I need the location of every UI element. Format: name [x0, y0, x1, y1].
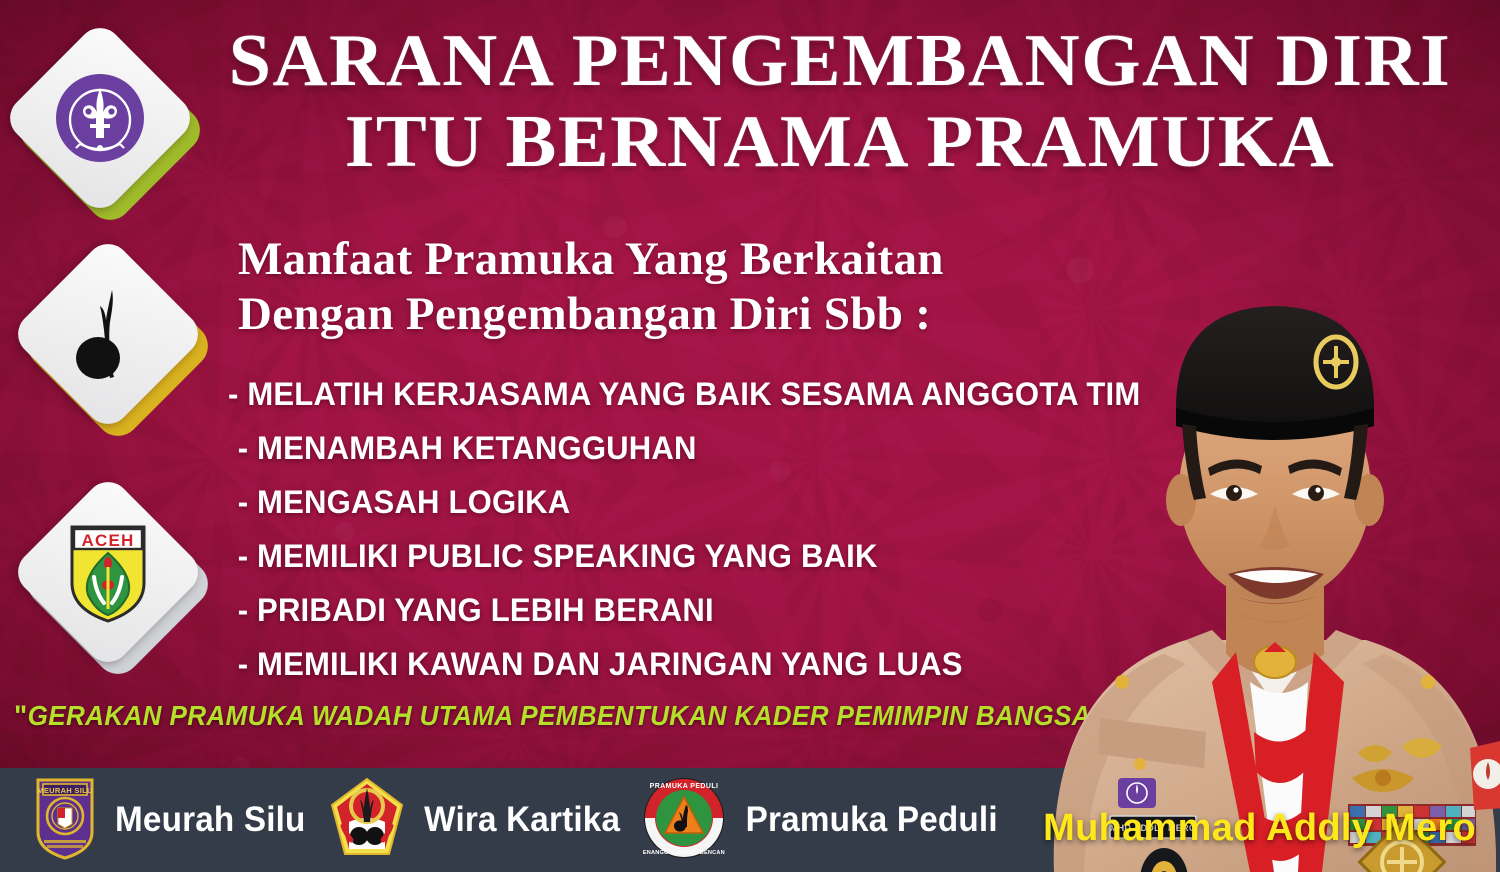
bottom-bar-label-wira-kartika: Wira Kartika	[424, 800, 620, 840]
bottom-bar-label-pramuka-peduli: Pramuka Peduli	[746, 800, 998, 840]
poster-title: SARANA PENGEMBANGAN DIRI ITU BERNAMA PRA…	[195, 26, 1485, 178]
svg-text:PRAMUKA PEDULI: PRAMUKA PEDULI	[650, 783, 719, 790]
person-photo: MHD ADDLY MERO	[1036, 212, 1500, 872]
person-name-label: Muhammad Addly Mero	[1043, 807, 1476, 850]
title-line-1: SARANA PENGEMBANGAN DIRI	[176, 26, 1500, 97]
wira-kartika-pentagon-icon	[329, 776, 405, 865]
aceh-provincial-emblem-badge: ACEH	[36, 500, 196, 660]
subtitle-line-1: Manfaat Pramuka Yang Berkaitan	[238, 232, 1138, 287]
quote-open-mark: "	[14, 700, 28, 733]
bottom-bar-label-meurah-silu: Meurah Silu	[115, 800, 306, 840]
aceh-emblem-icon: ACEH	[38, 502, 178, 642]
title-line-2: ITU BERNAMA PRAMUKA	[176, 107, 1500, 178]
svg-text:MEURAH SILU: MEURAH SILU	[37, 786, 92, 795]
world-scout-emblem-badge	[28, 46, 188, 206]
bottom-bar-item-pramuka-peduli: PRAMUKA PEDULI PENANGGULANGAN BENCANA Pr…	[643, 777, 1022, 864]
svg-text:PENANGGULANGAN BENCANA: PENANGGULANGAN BENCANA	[643, 850, 725, 856]
quote-text: GERAKAN PRAMUKA WADAH UTAMA PEMBENTUKAN …	[28, 700, 1091, 731]
meurah-silu-shield-icon: MEURAH SILU	[34, 776, 96, 865]
bottom-bar-item-meurah-silu: MEURAH SILU Meurah Silu	[34, 776, 329, 865]
poster-root: ACEH SARANA PENGEMBANGAN DIRI ITU BERNAM…	[0, 0, 1500, 872]
tunas-kelapa-emblem-badge	[36, 262, 196, 422]
world-scout-icon	[30, 48, 170, 188]
bottom-bar-items: MEURAH SILU Meurah Silu	[34, 768, 1022, 872]
pramuka-peduli-circle-icon: PRAMUKA PEDULI PENANGGULANGAN BENCANA	[643, 777, 725, 864]
svg-text:ACEH: ACEH	[82, 531, 135, 550]
poster-subtitle: Manfaat Pramuka Yang Berkaitan Dengan Pe…	[238, 232, 1138, 341]
tunas-kelapa-icon	[38, 264, 178, 404]
subtitle-line-2: Dengan Pengembangan Diri Sbb :	[238, 287, 1138, 342]
bottom-bar-item-wira-kartika: Wira Kartika	[329, 776, 643, 865]
motto-quote: "GERAKAN PRAMUKA WADAH UTAMA PEMBENTUKAN…	[14, 700, 991, 734]
